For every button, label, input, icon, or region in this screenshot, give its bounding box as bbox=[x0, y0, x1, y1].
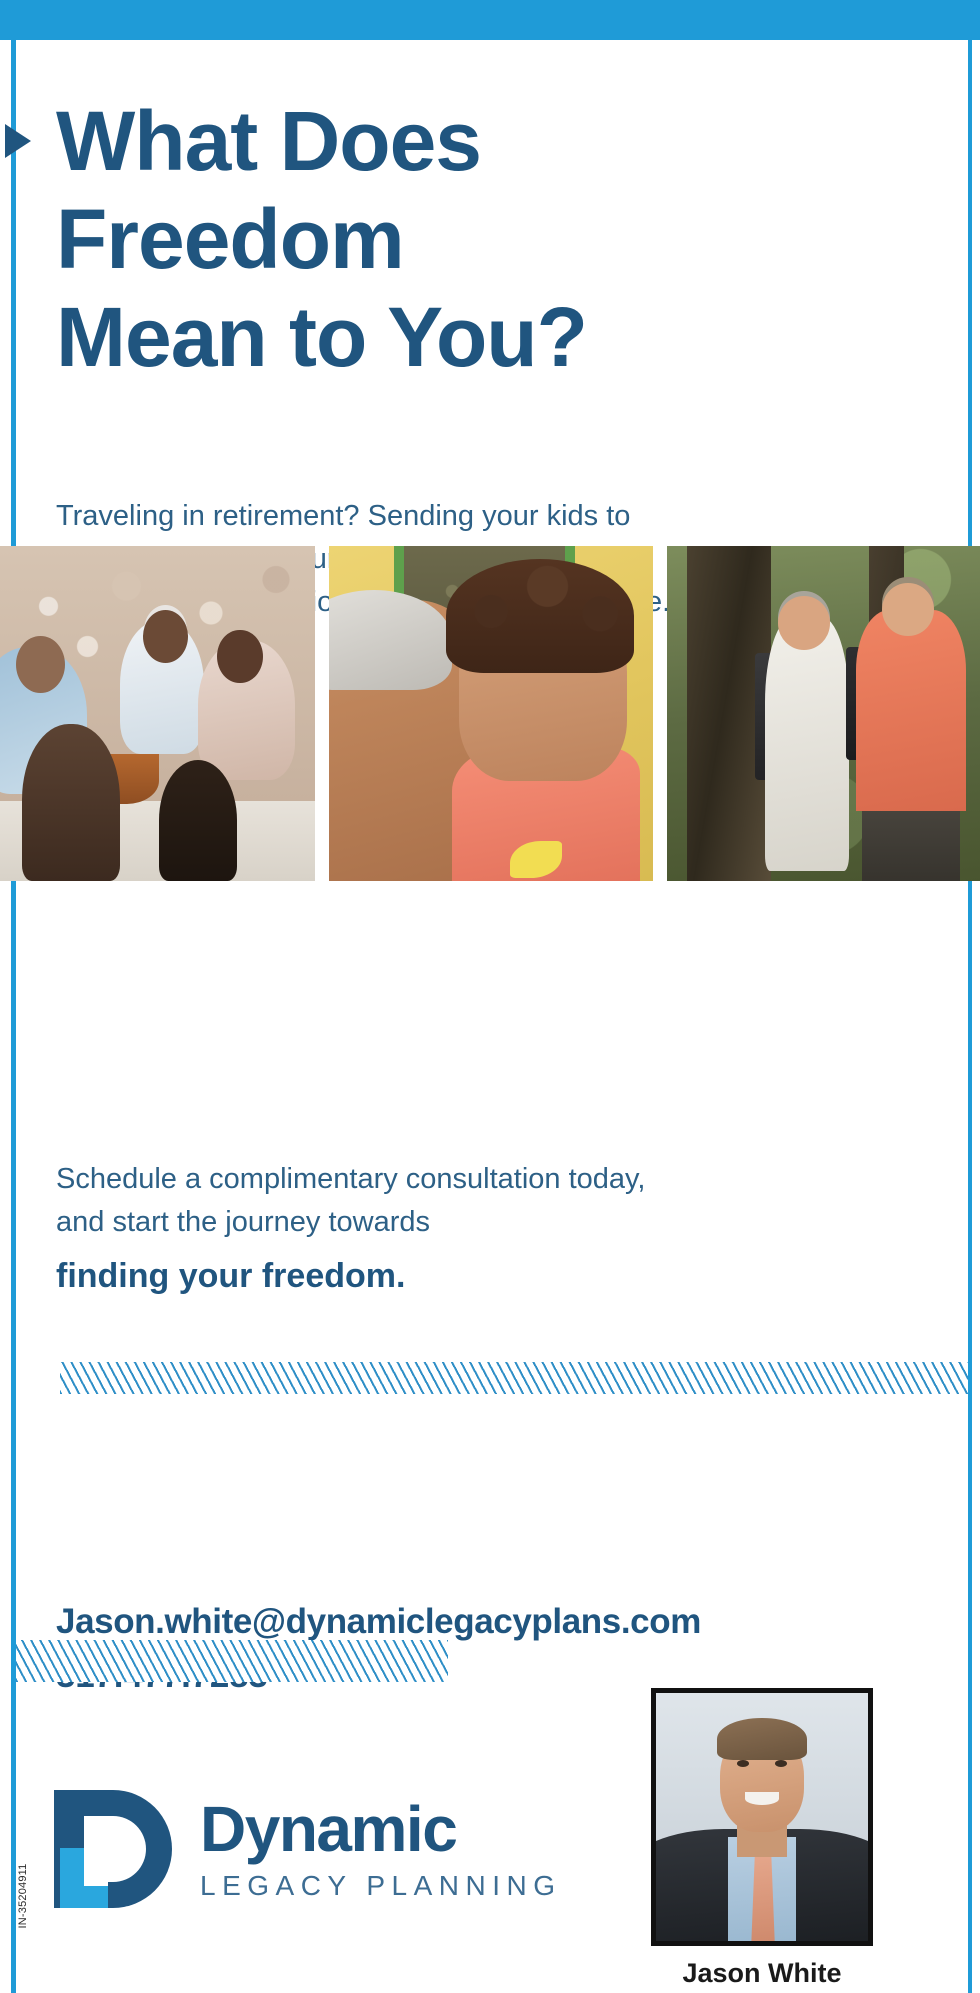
advertisement: IN-35204911 What Does Freedom Mean to Yo… bbox=[0, 0, 980, 1993]
advisor-card: Jason White bbox=[651, 1688, 873, 1989]
headline-line-3: Mean to You? bbox=[56, 288, 900, 386]
headline-line-1: What Does bbox=[56, 92, 900, 190]
photo-hikers bbox=[667, 546, 980, 881]
photo-figure-head bbox=[143, 610, 188, 664]
cta-line-2: and start the journey towards bbox=[56, 1201, 776, 1244]
photo-figure-head bbox=[16, 636, 65, 693]
advisor-name: Jason White bbox=[651, 1958, 873, 1989]
photo-family-dinner bbox=[0, 546, 315, 881]
photo-foreground-figure bbox=[22, 724, 119, 881]
job-id-label: IN-35204911 bbox=[17, 1841, 29, 1951]
top-accent-bar bbox=[0, 0, 980, 40]
photo-foreground-figure bbox=[159, 760, 237, 881]
photo-figure-head bbox=[778, 596, 830, 650]
logo-company-name: Dynamic bbox=[200, 1797, 562, 1861]
logo-l-notch bbox=[84, 1848, 108, 1886]
cta-line-1: Schedule a complimentary consultation to… bbox=[56, 1158, 776, 1201]
company-logo[interactable]: Dynamic LEGACY PLANNING bbox=[54, 1790, 562, 1908]
logo-d-mark-icon bbox=[54, 1790, 172, 1908]
call-to-action-block: Schedule a complimentary consultation to… bbox=[56, 1158, 776, 1302]
headshot-smile bbox=[745, 1792, 779, 1804]
photo-figure-head bbox=[882, 583, 934, 637]
photo-figure bbox=[856, 610, 966, 811]
intro-line-1: Traveling in retirement? Sending your ki… bbox=[56, 495, 746, 538]
headline-line-2: Freedom bbox=[56, 190, 900, 288]
headline-block: What Does Freedom Mean to You? bbox=[0, 92, 900, 386]
headshot-tie bbox=[751, 1847, 774, 1941]
right-accent-rule bbox=[968, 40, 972, 1993]
headshot-hair bbox=[717, 1718, 806, 1760]
page-title: What Does Freedom Mean to You? bbox=[56, 92, 900, 386]
contact-email[interactable]: Jason.white@dynamiclegacyplans.com bbox=[56, 1598, 701, 1646]
photo-strip bbox=[0, 546, 980, 881]
advisor-headshot bbox=[651, 1688, 873, 1946]
hatch-divider-top bbox=[60, 1362, 968, 1394]
hatch-divider-bottom bbox=[16, 1640, 448, 1682]
triangle-bullet-icon bbox=[5, 124, 31, 158]
photo-figure bbox=[765, 616, 849, 871]
photo-figure-head bbox=[217, 630, 262, 684]
photo-figure-hair bbox=[446, 559, 634, 673]
logo-tagline: LEGACY PLANNING bbox=[200, 1871, 562, 1901]
photo-grandmother-and-girl bbox=[329, 546, 654, 881]
cta-emphasis: finding your freedom. bbox=[56, 1250, 776, 1302]
logo-wordmark: Dynamic LEGACY PLANNING bbox=[200, 1797, 562, 1901]
